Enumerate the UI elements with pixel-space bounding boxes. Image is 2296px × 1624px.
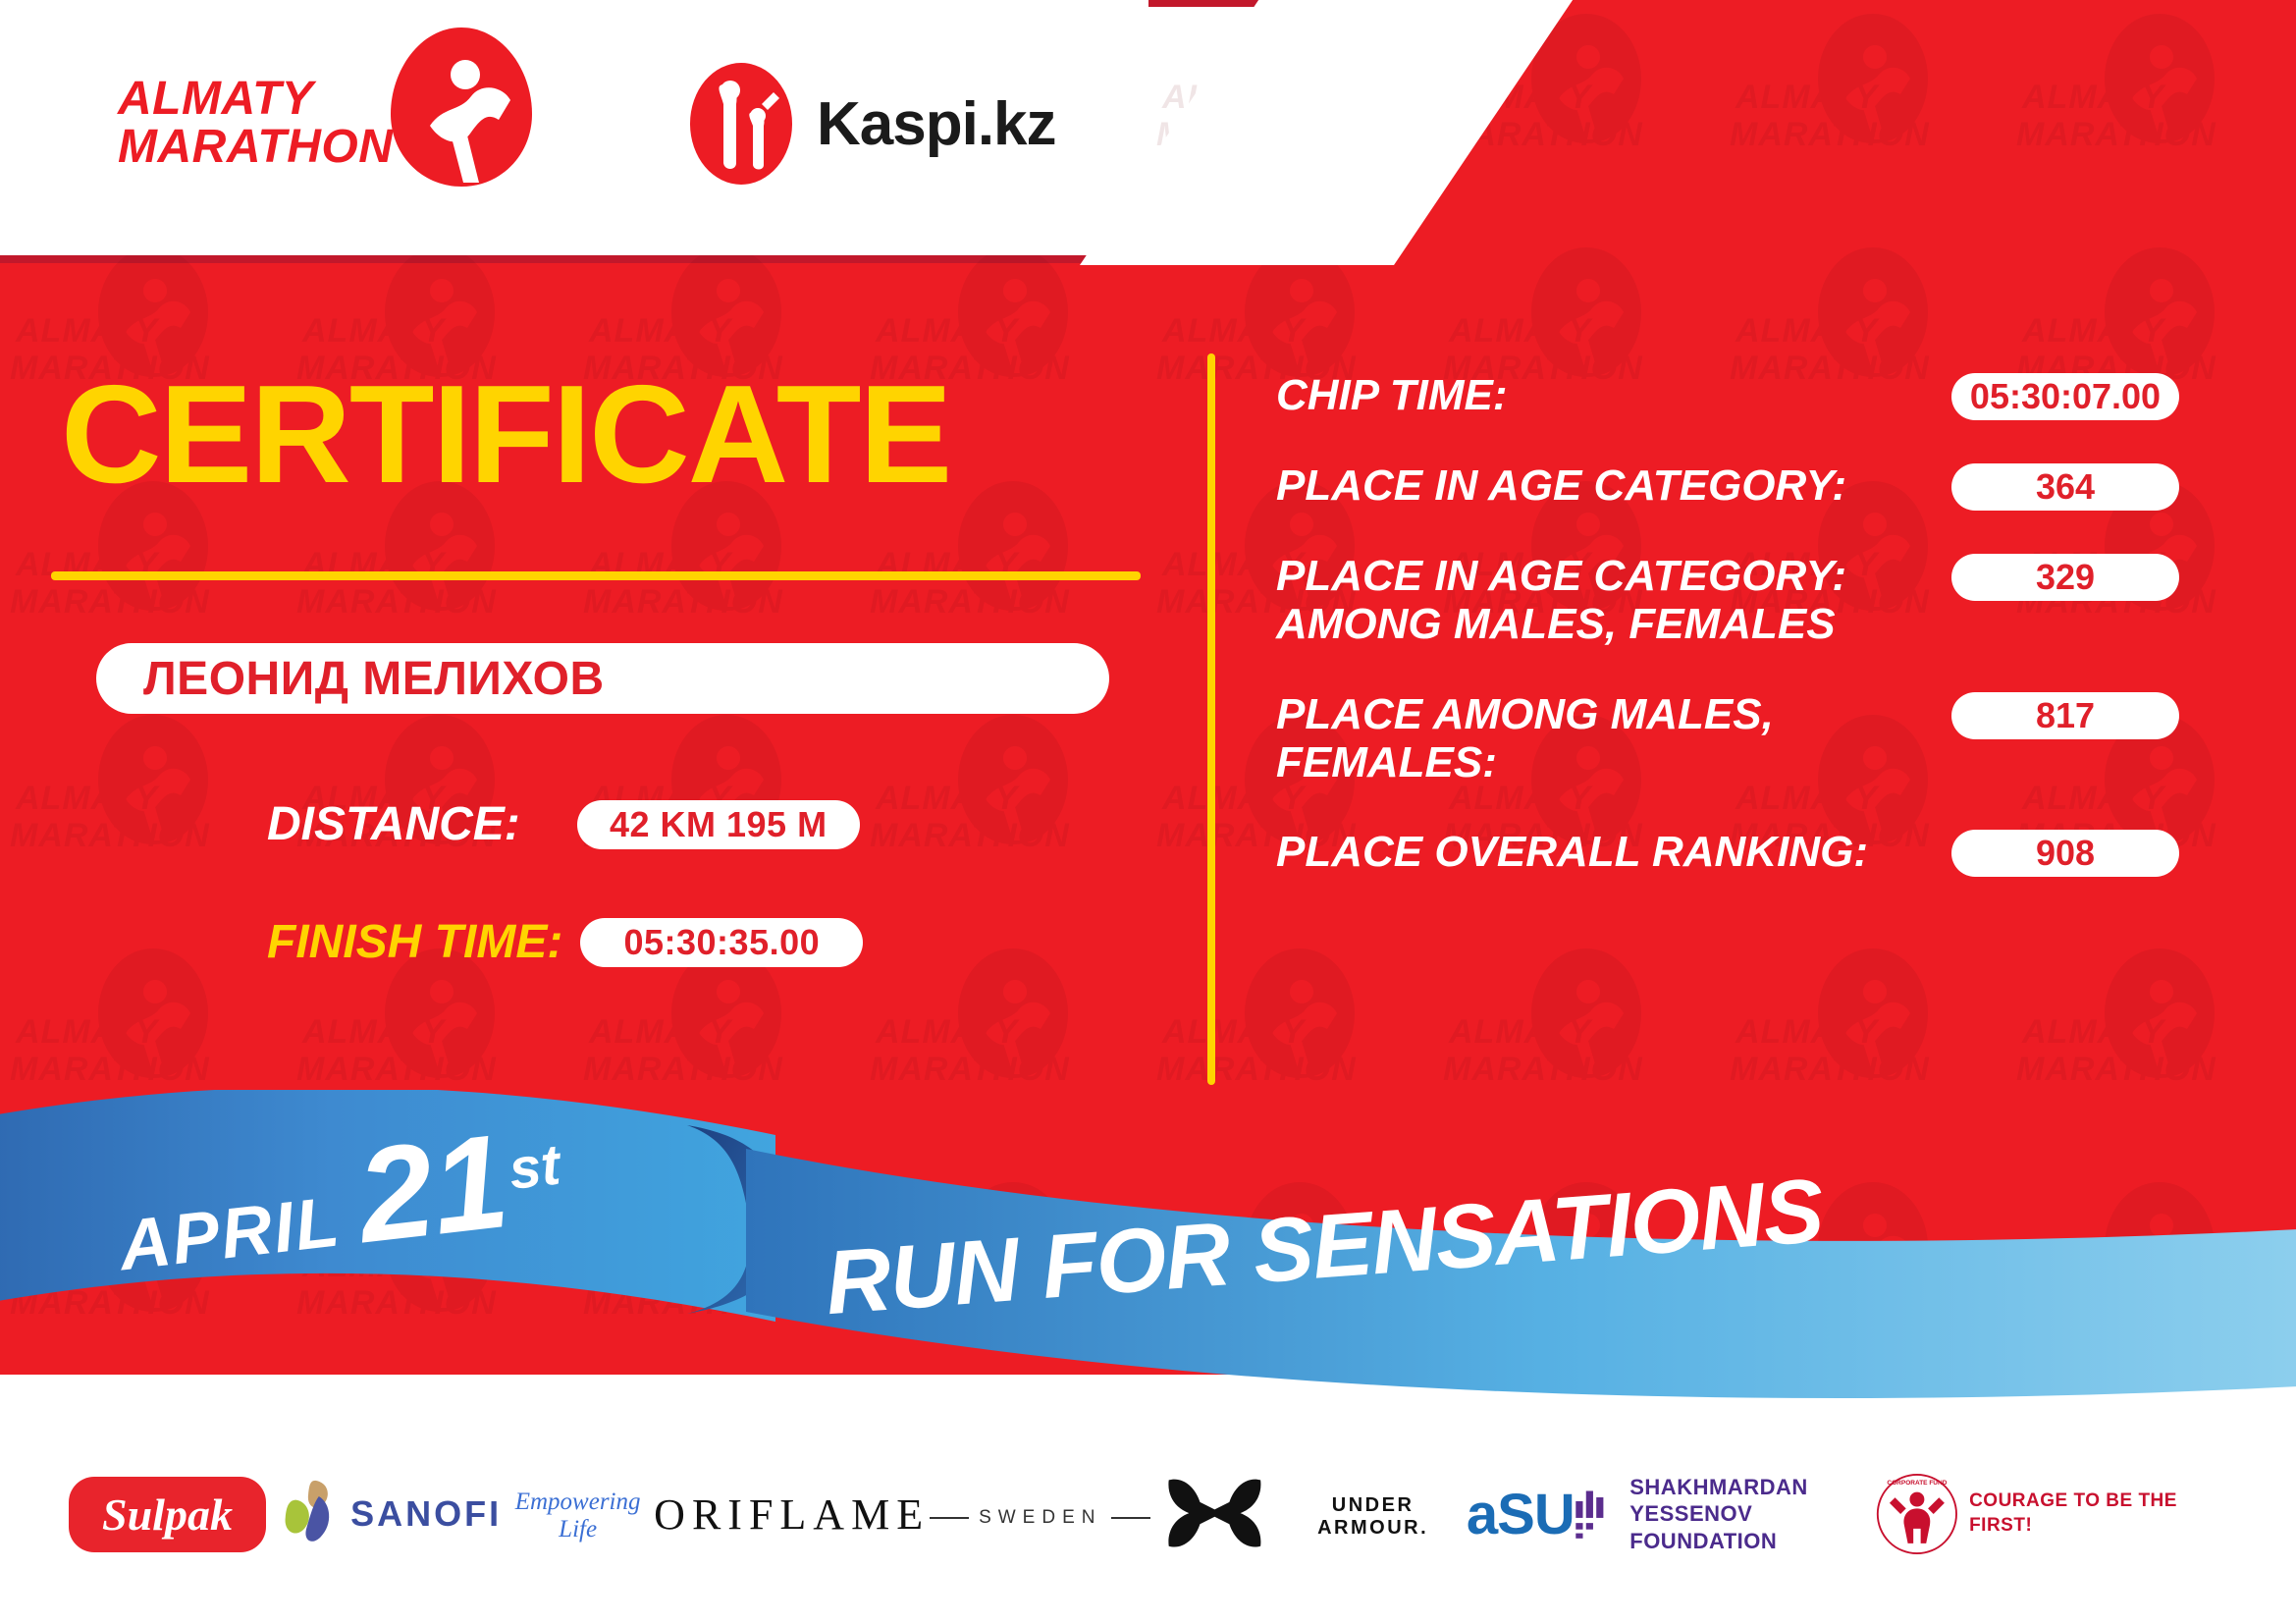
distance-value: 42 KM 195 M (577, 800, 860, 849)
shakhmardan-wordmark: SHAKHMARDAN YESSENOV FOUNDATION (1629, 1474, 1875, 1555)
page-title: CERTIFICATE (61, 365, 950, 505)
sponsor-shakhmardan-yessenov-foundation[interactable]: SHAKHMARDAN YESSENOV FOUNDATION (1575, 1474, 1876, 1555)
shakhmardan-mark-icon (1575, 1475, 1615, 1553)
sanofi-mark-icon (266, 1473, 350, 1555)
kaspi-logo[interactable]: Kaspi.kz (687, 61, 1056, 187)
under-armour-logo-icon (1150, 1472, 1279, 1556)
stat-row-place-among-gender: PLACE AMONG MALES, FEMALES: 817 (1276, 690, 2179, 787)
stat-row-place-age-category: PLACE IN AGE CATEGORY: 364 (1276, 461, 2179, 511)
column-divider (1207, 353, 1215, 1085)
sponsor-oriflame[interactable]: ORIFLAME SWEDEN (654, 1489, 1150, 1540)
courage-child-icon: CORPORATE FUND (1875, 1469, 1959, 1559)
finish-time-value: 05:30:35.00 (580, 918, 863, 967)
stat-row-chip-time: CHIP TIME: 05:30:07.00 (1276, 371, 2179, 420)
oriflame-dash-left (930, 1517, 969, 1519)
almaty-marathon-logo[interactable]: ALMATY MARATHON (118, 57, 540, 190)
sponsor-sulpak[interactable]: Sulpak (69, 1477, 266, 1552)
stat-label: PLACE AMONG MALES, FEMALES: (1276, 690, 1904, 787)
stat-value: 05:30:07.00 (1951, 373, 2179, 420)
stat-label: PLACE OVERALL RANKING: (1276, 828, 1868, 876)
stat-value: 329 (1951, 554, 2179, 601)
sponsor-asu[interactable]: aSU (1467, 1482, 1575, 1547)
stat-value: 364 (1951, 463, 2179, 511)
kaspi-wordmark: Kaspi.kz (817, 89, 1056, 159)
stat-label: PLACE IN AGE CATEGORY: (1276, 461, 1846, 510)
stat-label: PLACE IN AGE CATEGORY: AMONG MALES, FEMA… (1276, 552, 1904, 649)
oriflame-dash-right (1111, 1517, 1150, 1519)
sponsor-sanofi[interactable]: SANOFI Empowering Life (266, 1473, 654, 1555)
distance-row: DISTANCE: 42 KM 195 M (267, 797, 860, 851)
event-day: 21 (352, 1120, 513, 1257)
participant-name-value: ЛЕОНИД МЕЛИХОВ (143, 652, 605, 706)
stat-row-place-overall: PLACE OVERALL RANKING: 908 (1276, 828, 2179, 877)
participant-name-field: ЛЕОНИД МЕЛИХОВ (96, 643, 1109, 714)
courage-wordmark: COURAGE TO BE THE FIRST! (1969, 1489, 2227, 1538)
stat-row-place-age-category-gender: PLACE IN AGE CATEGORY: AMONG MALES, FEMA… (1276, 552, 2179, 649)
finish-time-label: FINISH TIME: (267, 915, 562, 969)
sanofi-tagline: Empowering Life (502, 1489, 654, 1543)
stat-value: 908 (1951, 830, 2179, 877)
oriflame-wordmark: ORIFLAME (654, 1489, 930, 1540)
oriflame-subline-wrap: SWEDEN (930, 1507, 1150, 1529)
stat-value: 817 (1951, 692, 2179, 739)
sponsor-under-armour[interactable]: UNDER ARMOUR. (1150, 1472, 1466, 1556)
result-stats-list: CHIP TIME: 05:30:07.00 PLACE IN AGE CATE… (1276, 371, 2179, 918)
distance-label: DISTANCE: (267, 797, 520, 851)
sulpak-wordmark: Sulpak (69, 1477, 266, 1552)
stat-label: CHIP TIME: (1276, 371, 1507, 419)
svg-text:CORPORATE FUND: CORPORATE FUND (1888, 1480, 1948, 1487)
under-armour-wordmark: UNDER ARMOUR. (1279, 1494, 1467, 1540)
sponsor-courage-to-be-the-first[interactable]: CORPORATE FUND COURAGE TO BE THE FIRST! (1875, 1469, 2227, 1559)
oriflame-subline: SWEDEN (979, 1507, 1101, 1529)
runner-drop-icon (383, 24, 540, 190)
finish-time-row: FINISH TIME: 05:30:35.00 (267, 915, 863, 969)
almaty-marathon-line2: MARATHON (118, 124, 393, 172)
title-underline (51, 571, 1141, 580)
event-day-ordinal: st (506, 1132, 563, 1203)
sponsor-bar: Sulpak SANOFI Empowering Life ORIFLAME S… (0, 1404, 2296, 1624)
kaspi-mark-icon (687, 61, 795, 187)
header-logo-row: ALMATY MARATHON Kaspi.kz (0, 0, 1139, 263)
certificate-page: ALMATY MARATHON ALMATY MARATHON (0, 0, 2296, 1624)
almaty-marathon-line1: ALMATY (118, 76, 393, 124)
asu-wordmark: aSU (1467, 1482, 1575, 1547)
sanofi-wordmark: SANOFI (350, 1493, 502, 1535)
